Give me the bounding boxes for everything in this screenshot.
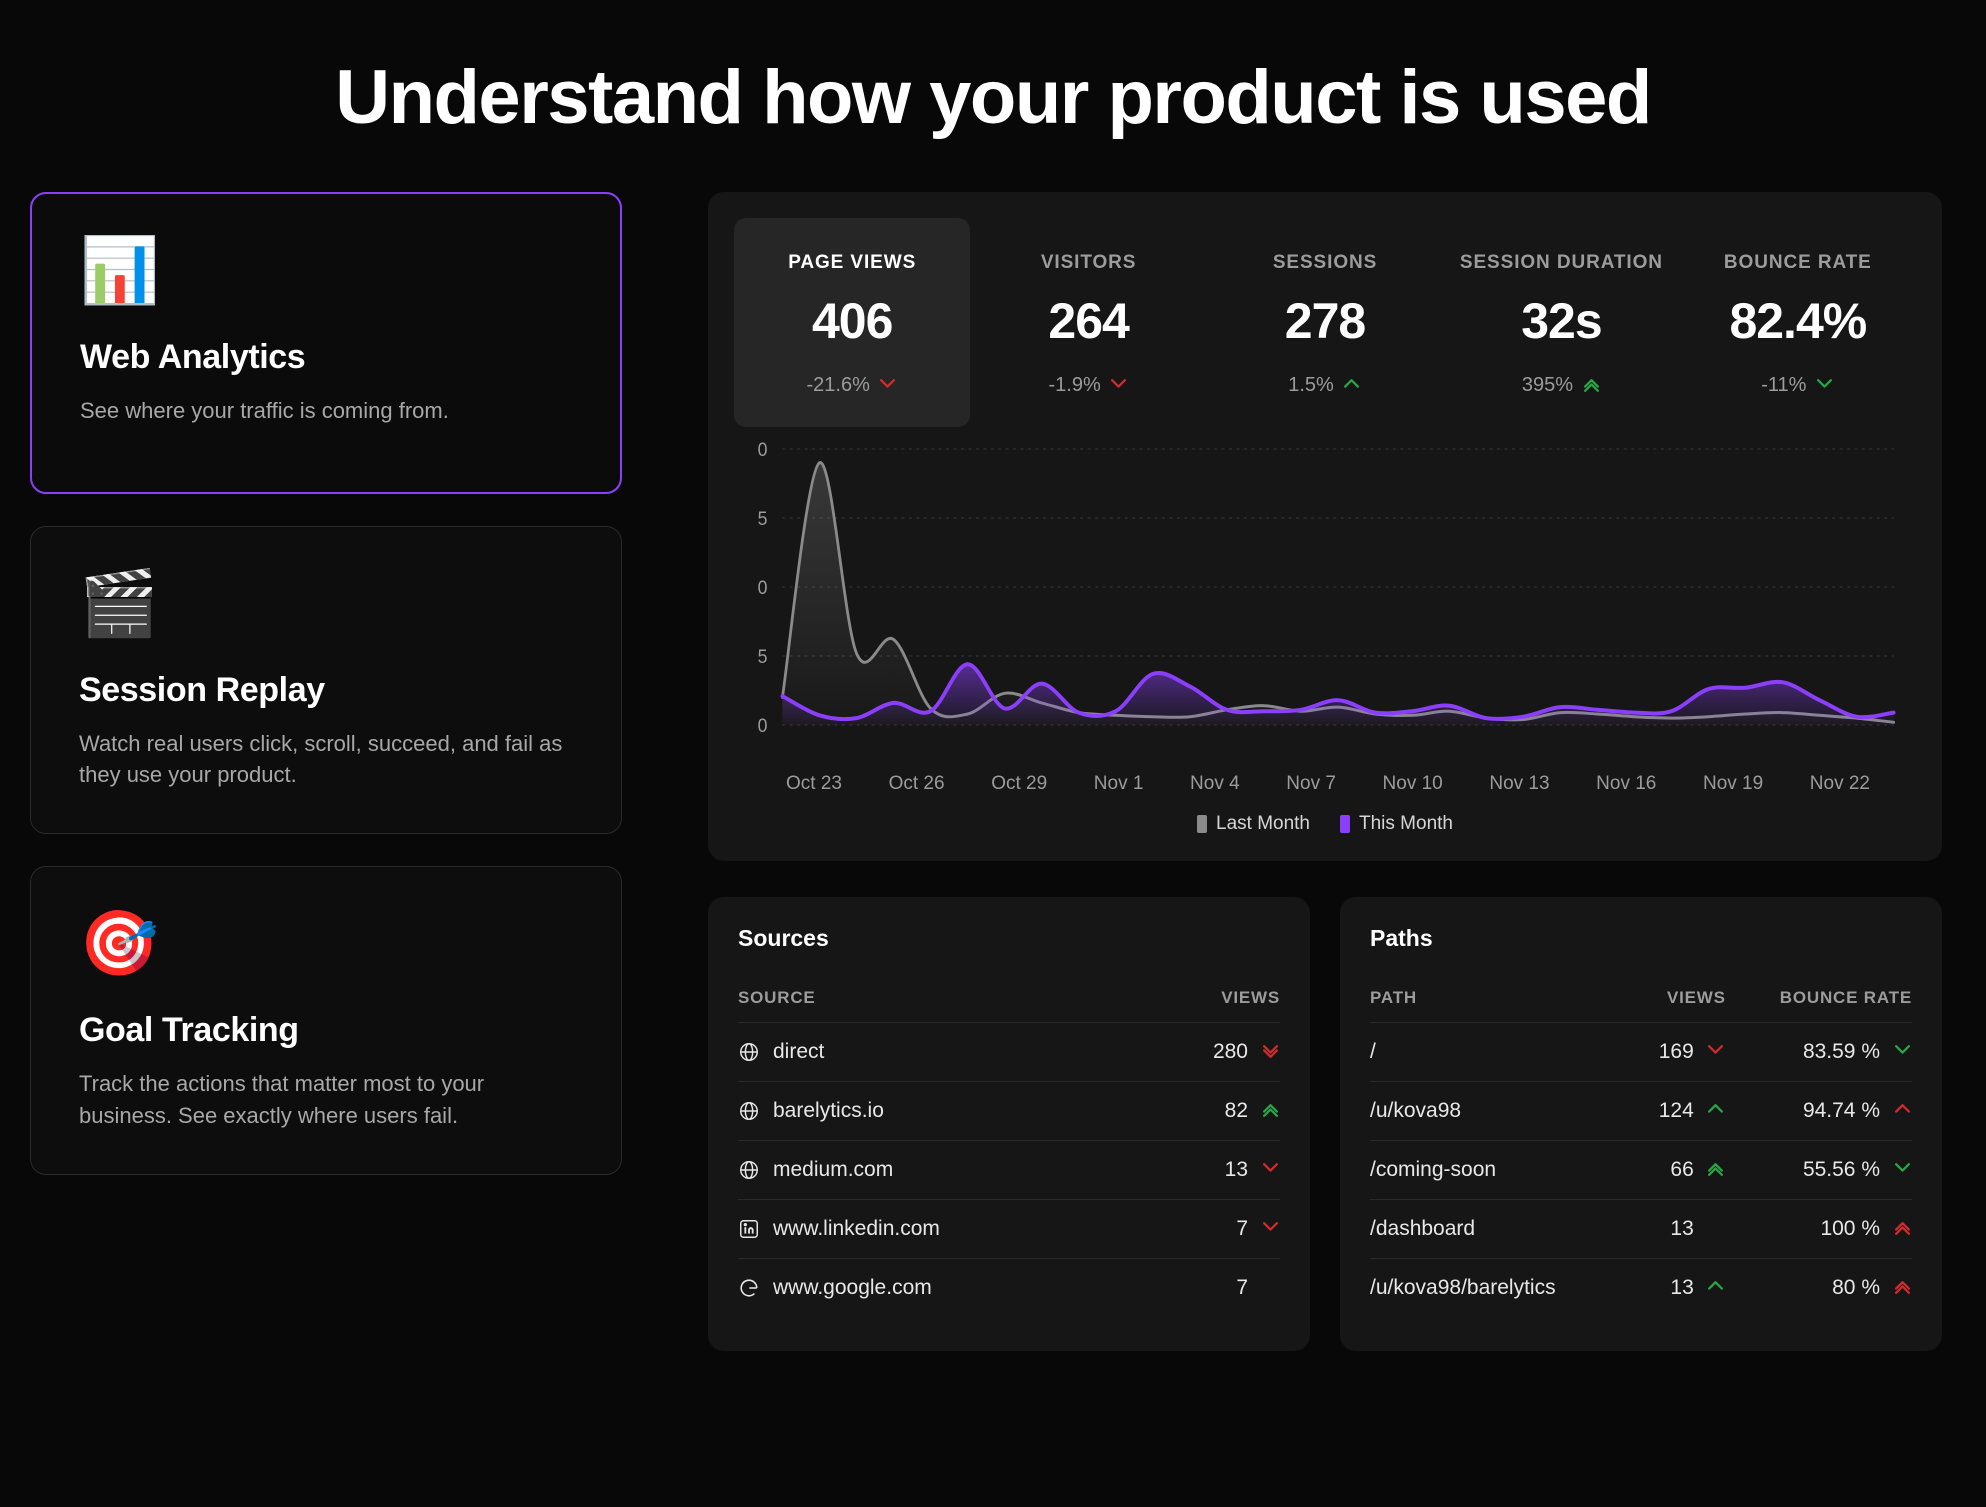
source-cell: barelytics.io bbox=[738, 1081, 1145, 1140]
legend-swatch-icon bbox=[1340, 815, 1350, 833]
views-value: 169 bbox=[1659, 1040, 1694, 1064]
bounce-rate-cell: 100 % bbox=[1726, 1199, 1912, 1258]
x-axis-tick: Nov 4 bbox=[1190, 773, 1240, 795]
chevron-down-icon bbox=[878, 377, 898, 394]
views-cell: 13 bbox=[1145, 1140, 1280, 1199]
sources-col-views: VIEWS bbox=[1145, 988, 1280, 1023]
globe-icon bbox=[738, 1041, 760, 1063]
path-cell: /coming-soon bbox=[1370, 1140, 1631, 1199]
x-axis-tick: Nov 10 bbox=[1383, 773, 1443, 795]
chevron-down-icon bbox=[1109, 377, 1129, 394]
feature-description: See where your traffic is coming from. bbox=[80, 395, 570, 427]
table-row[interactable]: /dashboard 13 100 % bbox=[1370, 1199, 1912, 1258]
views-cell: 13 bbox=[1631, 1199, 1725, 1258]
views-cell: 7 bbox=[1145, 1258, 1280, 1317]
chevron-down-icon bbox=[1892, 1161, 1912, 1178]
chevron-down-icon bbox=[1260, 1220, 1280, 1237]
feature-card-1[interactable]: 🎬 Session Replay Watch real users click,… bbox=[30, 526, 622, 835]
views-cell: 82 bbox=[1145, 1081, 1280, 1140]
sources-title: Sources bbox=[738, 925, 1280, 952]
bounce-rate-cell: 55.56 % bbox=[1726, 1140, 1912, 1199]
kpi-value: 406 bbox=[740, 292, 964, 350]
table-row[interactable]: /coming-soon 66 55.56 % bbox=[1370, 1140, 1912, 1199]
kpi-value: 32s bbox=[1449, 292, 1673, 350]
chart-y-axis-labels: 05050 bbox=[758, 438, 768, 736]
analytics-dashboard: PAGE VIEWS 406 -21.6% VISITORS 264 -1.9%… bbox=[708, 192, 1942, 1351]
kpi-delta: -11% bbox=[1686, 374, 1910, 397]
chevron-down-icon bbox=[1814, 377, 1834, 394]
kpi-delta: 395% bbox=[1449, 374, 1673, 397]
chevron-down-icon bbox=[1260, 1161, 1280, 1178]
paths-header-row: PATH VIEWS BOUNCE RATE bbox=[1370, 988, 1912, 1023]
table-row[interactable]: www.linkedin.com 7 bbox=[738, 1199, 1280, 1258]
table-row[interactable]: barelytics.io 82 bbox=[738, 1081, 1280, 1140]
views-value: 66 bbox=[1670, 1158, 1693, 1182]
paths-col-bounce-rate: BOUNCE RATE bbox=[1726, 988, 1912, 1023]
x-axis-tick: Nov 1 bbox=[1094, 773, 1144, 795]
kpi-label: SESSION DURATION bbox=[1449, 252, 1673, 274]
views-cell: 280 bbox=[1145, 1022, 1280, 1081]
double-chevron-up-icon bbox=[1581, 377, 1601, 394]
bar-chart-icon: 📊 bbox=[80, 238, 572, 318]
target-dart-icon: 🎯 bbox=[79, 911, 573, 991]
views-cell: 124 bbox=[1631, 1081, 1725, 1140]
table-row[interactable]: /u/kova98 124 94.74 % bbox=[1370, 1081, 1912, 1140]
globe-icon bbox=[738, 1100, 760, 1122]
views-value: 13 bbox=[1670, 1276, 1693, 1300]
paths-title: Paths bbox=[1370, 925, 1912, 952]
kpi-label: SESSIONS bbox=[1213, 252, 1437, 274]
views-cell: 13 bbox=[1631, 1258, 1725, 1317]
kpi-label: BOUNCE RATE bbox=[1686, 252, 1910, 274]
kpi-value: 82.4% bbox=[1686, 292, 1910, 350]
chart-legend: Last Month This Month bbox=[734, 813, 1916, 839]
source-cell: www.linkedin.com bbox=[738, 1199, 1145, 1258]
table-row[interactable]: /u/kova98/barelytics 13 80 % bbox=[1370, 1258, 1912, 1317]
chart-x-axis: Oct 23Oct 26Oct 29Nov 1Nov 4Nov 7Nov 10N… bbox=[734, 773, 1916, 795]
chevron-up-icon bbox=[1892, 1102, 1912, 1119]
x-axis-tick: Nov 16 bbox=[1596, 773, 1656, 795]
x-axis-tick: Nov 13 bbox=[1489, 773, 1549, 795]
chevron-down-icon bbox=[1892, 1043, 1912, 1060]
feature-card-list: 📊 Web Analytics See where your traffic i… bbox=[30, 192, 622, 1176]
traffic-chart-svg: 05050 bbox=[734, 437, 1916, 767]
clapper-board-icon: 🎬 bbox=[79, 571, 573, 651]
svg-text:0: 0 bbox=[758, 714, 768, 736]
legend-swatch-icon bbox=[1197, 815, 1207, 833]
paths-table: PATH VIEWS BOUNCE RATE / 169 83.59 % /u/… bbox=[1370, 988, 1912, 1317]
table-row[interactable]: direct 280 bbox=[738, 1022, 1280, 1081]
bounce-rate-value: 83.59 % bbox=[1803, 1040, 1880, 1064]
table-row[interactable]: www.google.com 7 bbox=[738, 1258, 1280, 1317]
double-chevron-down-icon bbox=[1260, 1043, 1280, 1060]
feature-description: Watch real users click, scroll, succeed,… bbox=[79, 728, 569, 792]
source-cell: medium.com bbox=[738, 1140, 1145, 1199]
source-name: medium.com bbox=[773, 1158, 893, 1182]
svg-text:0: 0 bbox=[758, 576, 768, 598]
kpi-value: 264 bbox=[976, 292, 1200, 350]
globe-icon bbox=[738, 1159, 760, 1181]
x-axis-tick: Nov 7 bbox=[1286, 773, 1336, 795]
sources-panel: Sources SOURCE VIEWS direct 280 barelyti… bbox=[708, 897, 1310, 1351]
double-chevron-up-icon bbox=[1706, 1161, 1726, 1178]
legend-label: This Month bbox=[1359, 813, 1453, 835]
kpi-label: PAGE VIEWS bbox=[740, 252, 964, 274]
sources-col-source: SOURCE bbox=[738, 988, 1145, 1023]
chevron-down-icon bbox=[1706, 1043, 1726, 1060]
bounce-rate-value: 80 % bbox=[1832, 1276, 1880, 1300]
views-value: 7 bbox=[1236, 1276, 1248, 1300]
views-value: 13 bbox=[1225, 1158, 1248, 1182]
google-icon bbox=[738, 1277, 760, 1299]
path-cell: /dashboard bbox=[1370, 1199, 1631, 1258]
main-layout: 📊 Web Analytics See where your traffic i… bbox=[0, 140, 1986, 1351]
views-cell: 7 bbox=[1145, 1199, 1280, 1258]
x-axis-tick: Oct 29 bbox=[991, 773, 1047, 795]
feature-description: Track the actions that matter most to yo… bbox=[79, 1068, 569, 1132]
overview-chart-panel: PAGE VIEWS 406 -21.6% VISITORS 264 -1.9%… bbox=[708, 192, 1942, 861]
legend-label: Last Month bbox=[1216, 813, 1310, 835]
views-cell: 169 bbox=[1631, 1022, 1725, 1081]
table-row[interactable]: medium.com 13 bbox=[738, 1140, 1280, 1199]
views-cell: 66 bbox=[1631, 1140, 1725, 1199]
views-value: 124 bbox=[1659, 1099, 1694, 1123]
kpi-card-3[interactable]: SESSION DURATION 32s 395% bbox=[1443, 218, 1679, 427]
chevron-up-icon bbox=[1342, 377, 1362, 394]
feature-title: Web Analytics bbox=[80, 338, 572, 377]
kpi-delta-text: -1.9% bbox=[1048, 374, 1100, 397]
x-axis-tick: Oct 23 bbox=[786, 773, 842, 795]
kpi-delta-text: 1.5% bbox=[1288, 374, 1334, 397]
sources-header-row: SOURCE VIEWS bbox=[738, 988, 1280, 1023]
views-value: 7 bbox=[1236, 1217, 1248, 1241]
double-chevron-up-icon bbox=[1892, 1220, 1912, 1237]
chevron-up-icon bbox=[1706, 1102, 1726, 1119]
feature-title: Session Replay bbox=[79, 671, 573, 710]
feature-card-0[interactable]: 📊 Web Analytics See where your traffic i… bbox=[30, 192, 622, 494]
kpi-card-1[interactable]: VISITORS 264 -1.9% bbox=[970, 218, 1206, 427]
tables-row: Sources SOURCE VIEWS direct 280 barelyti… bbox=[708, 897, 1942, 1351]
kpi-label: VISITORS bbox=[976, 252, 1200, 274]
bounce-rate-cell: 94.74 % bbox=[1726, 1081, 1912, 1140]
table-row[interactable]: / 169 83.59 % bbox=[1370, 1022, 1912, 1081]
kpi-value: 278 bbox=[1213, 292, 1437, 350]
double-chevron-up-icon bbox=[1892, 1279, 1912, 1296]
x-axis-tick: Oct 26 bbox=[889, 773, 945, 795]
kpi-row: PAGE VIEWS 406 -21.6% VISITORS 264 -1.9%… bbox=[734, 218, 1916, 427]
legend-item-1[interactable]: This Month bbox=[1340, 813, 1453, 835]
kpi-delta: -1.9% bbox=[976, 374, 1200, 397]
path-cell: /u/kova98 bbox=[1370, 1081, 1631, 1140]
double-chevron-up-icon bbox=[1260, 1102, 1280, 1119]
source-name: www.google.com bbox=[773, 1276, 932, 1300]
bounce-rate-cell: 83.59 % bbox=[1726, 1022, 1912, 1081]
kpi-card-0[interactable]: PAGE VIEWS 406 -21.6% bbox=[734, 218, 970, 427]
traffic-chart: 05050 bbox=[734, 437, 1916, 767]
bounce-rate-value: 100 % bbox=[1820, 1217, 1880, 1241]
x-axis-tick: Nov 22 bbox=[1810, 773, 1870, 795]
path-cell: /u/kova98/barelytics bbox=[1370, 1258, 1631, 1317]
chevron-up-icon bbox=[1706, 1279, 1726, 1296]
source-name: barelytics.io bbox=[773, 1099, 884, 1123]
source-name: direct bbox=[773, 1040, 824, 1064]
legend-item-0[interactable]: Last Month bbox=[1197, 813, 1310, 835]
paths-panel: Paths PATH VIEWS BOUNCE RATE / 169 83.59… bbox=[1340, 897, 1942, 1351]
kpi-card-2[interactable]: SESSIONS 278 1.5% bbox=[1207, 218, 1443, 427]
paths-col-path: PATH bbox=[1370, 988, 1631, 1023]
views-value: 82 bbox=[1225, 1099, 1248, 1123]
page-title: Understand how your product is used bbox=[0, 0, 1986, 140]
kpi-delta: -21.6% bbox=[740, 374, 964, 397]
kpi-delta-text: -11% bbox=[1761, 374, 1806, 397]
feature-card-2[interactable]: 🎯 Goal Tracking Track the actions that m… bbox=[30, 866, 622, 1175]
paths-col-views: VIEWS bbox=[1631, 988, 1725, 1023]
bounce-rate-value: 55.56 % bbox=[1803, 1158, 1880, 1182]
bounce-rate-value: 94.74 % bbox=[1803, 1099, 1880, 1123]
kpi-delta-text: 395% bbox=[1522, 374, 1573, 397]
kpi-card-4[interactable]: BOUNCE RATE 82.4% -11% bbox=[1680, 218, 1916, 427]
views-value: 280 bbox=[1213, 1040, 1248, 1064]
sources-table: SOURCE VIEWS direct 280 barelytics.io 82… bbox=[738, 988, 1280, 1317]
svg-text:5: 5 bbox=[758, 507, 768, 529]
feature-title: Goal Tracking bbox=[79, 1011, 573, 1050]
source-cell: www.google.com bbox=[738, 1258, 1145, 1317]
path-cell: / bbox=[1370, 1022, 1631, 1081]
kpi-delta-text: -21.6% bbox=[807, 374, 870, 397]
linkedin-icon bbox=[738, 1218, 760, 1240]
series-this-month-area bbox=[782, 664, 1893, 725]
svg-text:0: 0 bbox=[758, 438, 768, 460]
x-axis-tick: Nov 19 bbox=[1703, 773, 1763, 795]
views-value: 13 bbox=[1670, 1217, 1693, 1241]
bounce-rate-cell: 80 % bbox=[1726, 1258, 1912, 1317]
source-name: www.linkedin.com bbox=[773, 1217, 940, 1241]
source-cell: direct bbox=[738, 1022, 1145, 1081]
kpi-delta: 1.5% bbox=[1213, 374, 1437, 397]
svg-text:5: 5 bbox=[758, 645, 768, 667]
